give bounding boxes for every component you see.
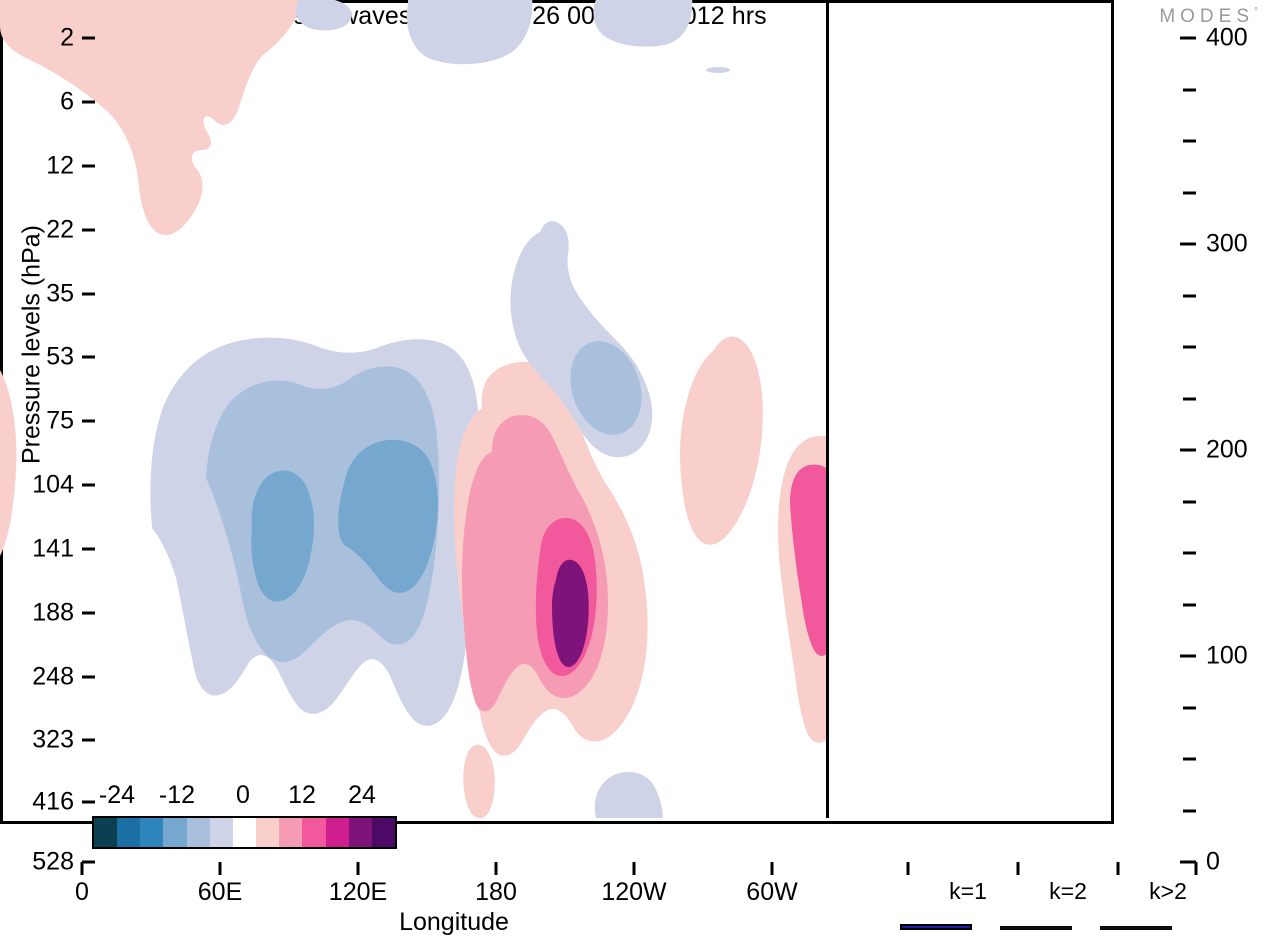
ytick-mark — [82, 739, 95, 742]
rtick-mark — [1183, 89, 1196, 92]
ytick-label: 6 — [60, 88, 74, 117]
rtick-label: 400 — [1206, 24, 1248, 53]
colorbar — [92, 816, 397, 849]
ytick-mark — [82, 612, 95, 615]
ytick-mark — [82, 484, 95, 487]
energy-tick-mark — [1017, 862, 1020, 875]
colorbar-swatch-1 — [117, 818, 140, 847]
ytick-mark — [82, 548, 95, 551]
ytick-label: 2 — [60, 24, 74, 53]
colorbar-swatch-2 — [140, 818, 163, 847]
xtick-label: 0 — [75, 878, 89, 907]
colorbar-label: 24 — [348, 781, 376, 810]
ytick-mark — [82, 37, 95, 40]
contour-negative-top-dot — [706, 67, 730, 73]
ytick-mark — [82, 676, 95, 679]
ytick-label: 12 — [46, 152, 74, 181]
rtick-mark — [1183, 346, 1196, 349]
xtick-mark — [907, 862, 910, 875]
colorbar-swatch-3 — [163, 818, 186, 847]
contour-positive-small-blob — [463, 745, 495, 819]
colorbar-swatch-4 — [187, 818, 210, 847]
xtick-mark — [633, 862, 636, 875]
rtick-mark — [1183, 707, 1196, 710]
ytick-mark — [82, 101, 95, 104]
rtick-label: 100 — [1206, 642, 1248, 671]
rtick-mark — [1183, 501, 1196, 504]
xtick-mark — [81, 862, 84, 875]
rtick-mark — [1183, 192, 1196, 195]
contour-field — [0, 0, 826, 818]
ytick-label: 35 — [46, 280, 74, 309]
ytick-label: 22 — [46, 216, 74, 245]
contour-negative-bottom-a — [595, 772, 663, 818]
ytick-label: 323 — [32, 726, 74, 755]
energy-bar-k1 — [900, 924, 972, 930]
rtick-mark — [1183, 295, 1196, 298]
colorbar-label: -12 — [159, 781, 195, 810]
colorbar-label: -24 — [99, 781, 135, 810]
energy-bar-label-kgt2: k>2 — [1149, 878, 1187, 905]
xtick-mark — [771, 862, 774, 875]
ytick-label: 188 — [32, 599, 74, 628]
ytick-label: 248 — [32, 663, 74, 692]
ytick-label: 53 — [46, 343, 74, 372]
energy-bar-kgt2 — [1100, 926, 1172, 930]
contour-negative-top-b — [407, 0, 533, 64]
xtick-mark — [357, 862, 360, 875]
rtick-label: 0 — [1206, 848, 1220, 877]
colorbar-swatch-11 — [349, 818, 372, 847]
contour-negative-top-a — [296, 0, 352, 30]
rtick-mark — [1180, 655, 1196, 658]
ytick-mark — [82, 861, 95, 864]
contour-svg — [0, 0, 826, 818]
colorbar-swatch-7 — [256, 818, 279, 847]
colorbar-swatch-6 — [233, 818, 256, 847]
xtick-label: 180 — [475, 878, 517, 907]
panel-divider — [826, 0, 829, 818]
ytick-label: 528 — [32, 848, 74, 877]
colorbar-swatch-0 — [94, 818, 117, 847]
energy-bar-label-k1: k=1 — [949, 878, 987, 905]
colorbar-label: 0 — [236, 781, 250, 810]
rtick-mark — [1180, 243, 1196, 246]
rtick-mark — [1183, 140, 1196, 143]
ytick-mark — [82, 165, 95, 168]
rtick-mark — [1180, 449, 1196, 452]
rtick-mark — [1183, 810, 1196, 813]
ytick-mark — [82, 229, 95, 232]
colorbar-swatch-12 — [372, 818, 395, 847]
colorbar-label: 12 — [288, 781, 316, 810]
contour-shapes — [0, 0, 826, 818]
xtick-label: 60W — [746, 878, 797, 907]
rtick-label: 300 — [1206, 230, 1248, 259]
y-axis-title: Pressure levels (hPa) — [18, 145, 47, 545]
rtick-mark — [1183, 552, 1196, 555]
colorbar-swatch-10 — [326, 818, 349, 847]
ytick-mark — [82, 420, 95, 423]
rtick-mark — [1180, 37, 1196, 40]
xtick-label: 60E — [198, 878, 242, 907]
rtick-mark — [1183, 398, 1196, 401]
modes-logo-mark: ° — [1254, 7, 1258, 18]
ytick-label: 416 — [32, 788, 74, 817]
contour-positive-atlantic-band — [680, 336, 763, 544]
rtick-label: 200 — [1206, 436, 1248, 465]
rtick-mark — [1183, 758, 1196, 761]
energy-bar-label-k2: k=2 — [1049, 878, 1087, 905]
plot-frame — [0, 0, 1114, 824]
xtick-mark — [495, 862, 498, 875]
colorbar-swatch-5 — [210, 818, 233, 847]
xtick-mark — [219, 862, 222, 875]
contour-negative-top-c — [593, 0, 692, 47]
energy-tick-mark — [1117, 862, 1120, 875]
rtick-mark — [1183, 604, 1196, 607]
xtick-label: 120W — [601, 878, 666, 907]
xtick-label: 120E — [329, 878, 387, 907]
ytick-mark — [82, 801, 95, 804]
rtick-mark — [1180, 861, 1196, 864]
colorbar-swatch-8 — [279, 818, 302, 847]
energy-bar-k2 — [1000, 926, 1072, 930]
ytick-mark — [82, 293, 95, 296]
colorbar-swatch-9 — [302, 818, 325, 847]
contour-positive-left-edge — [0, 370, 16, 556]
x-axis-title: Longitude — [0, 908, 908, 937]
ytick-label: 75 — [46, 407, 74, 436]
ytick-mark — [82, 356, 95, 359]
energy-tick-mark — [1195, 862, 1198, 875]
